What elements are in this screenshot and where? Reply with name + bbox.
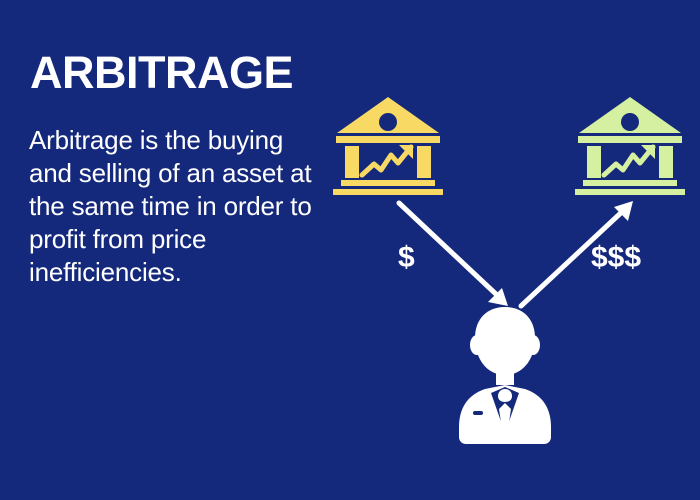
bank-icon: [333, 95, 443, 195]
bank-icon-right: [575, 95, 685, 195]
businessman-icon: [455, 305, 555, 445]
businessman-icon: [455, 305, 555, 445]
description-text: Arbitrage is the buying and selling of a…: [29, 124, 314, 289]
infographic-canvas: ARBITRAGE Arbitrage is the buying and se…: [0, 0, 700, 500]
money-label-sell: $$$: [591, 243, 641, 273]
bank-icon-left: [333, 95, 443, 195]
money-label-buy: $: [398, 243, 415, 273]
buy-arrow: [399, 203, 508, 306]
bank-icon: [575, 95, 685, 195]
page-title: ARBITRAGE: [30, 50, 293, 95]
